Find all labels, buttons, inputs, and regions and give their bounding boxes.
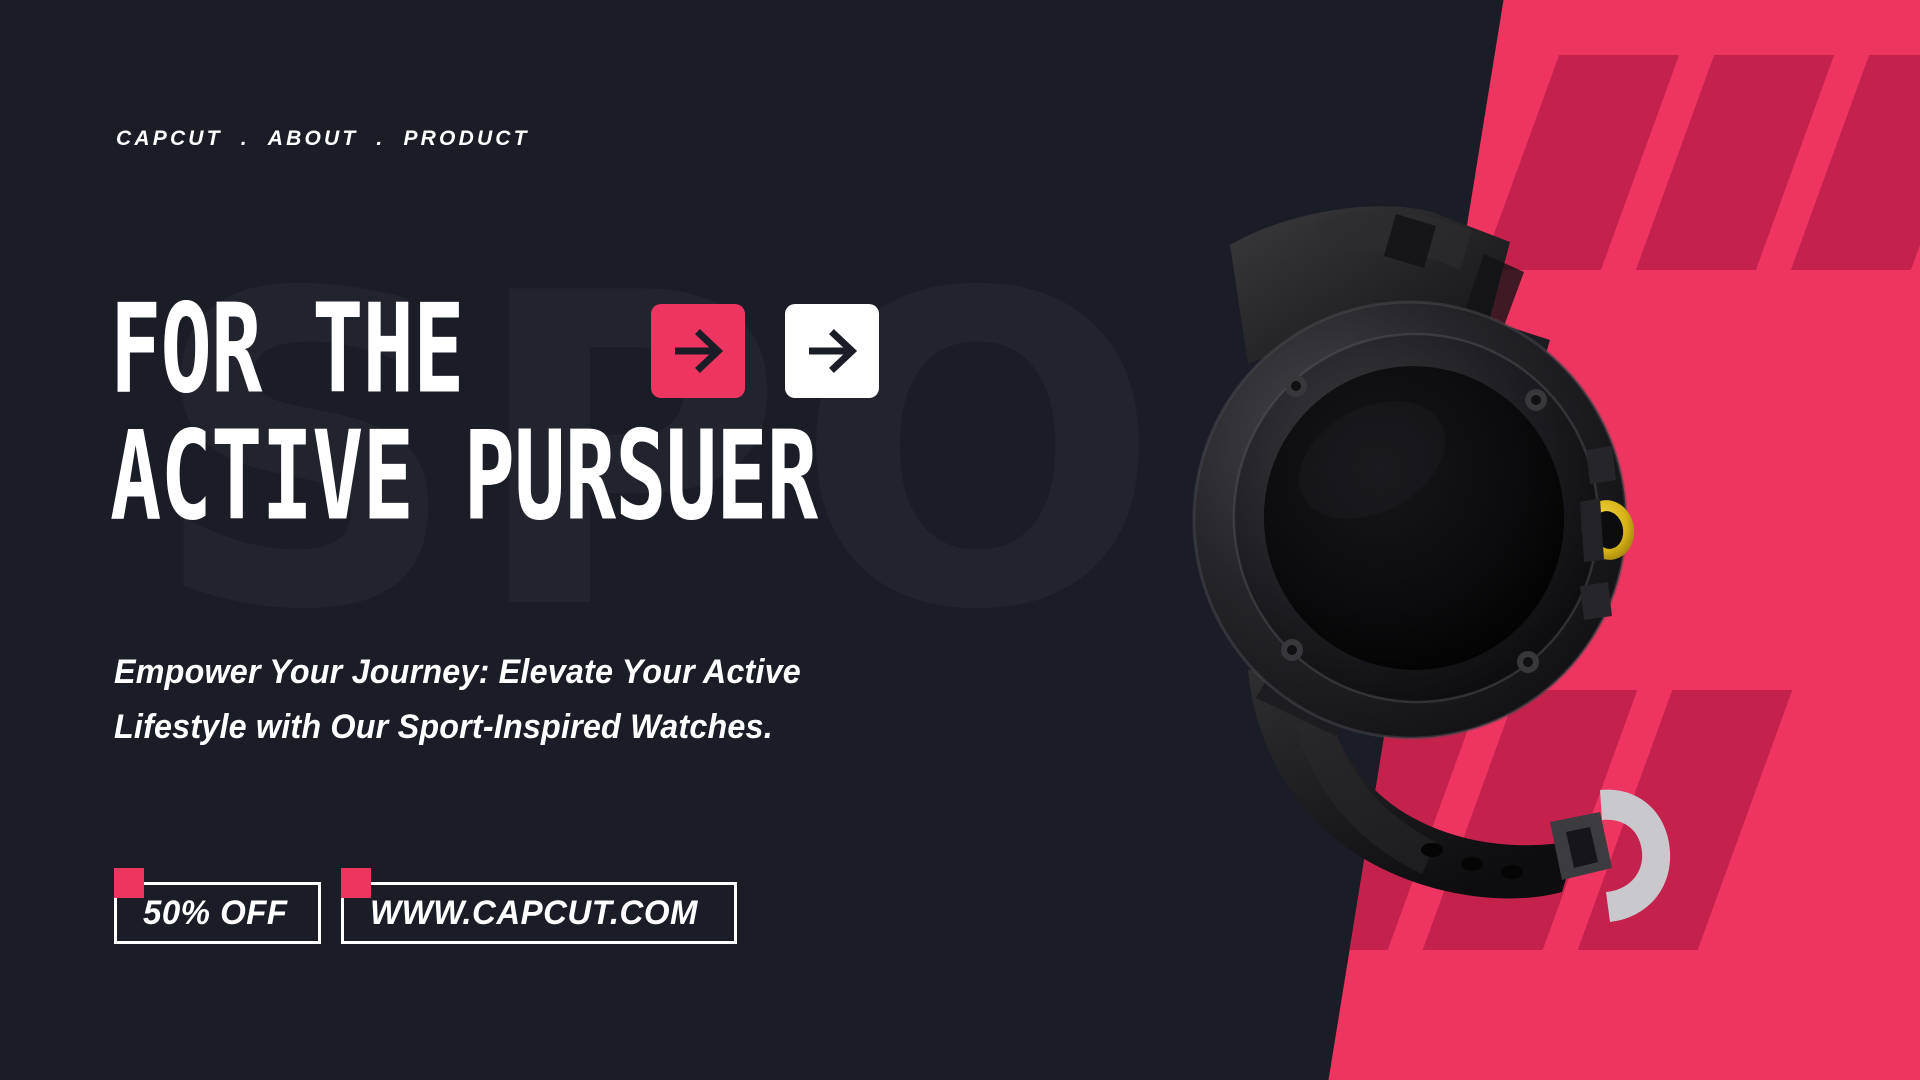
headline-row-1: FOR THE: [110, 300, 1110, 398]
cta-arrow-secondary-button[interactable]: [785, 304, 879, 398]
discount-badge[interactable]: 50% OFF: [114, 882, 321, 944]
badge-corner-square: [114, 868, 144, 898]
nav-item-capcut[interactable]: CAPCUT: [116, 127, 223, 151]
nav-item-product[interactable]: PRODUCT: [403, 127, 529, 151]
main-navigation: CAPCUT . ABOUT . PRODUCT: [116, 127, 530, 151]
hero-subtext: Empower Your Journey: Elevate Your Activ…: [114, 645, 931, 755]
promo-banner: SPO CAPCUT . ABOUT . PRODUCT FOR THE: [0, 0, 1920, 1080]
cta-arrow-group: [651, 304, 879, 398]
arrow-right-icon: [669, 322, 727, 380]
cta-arrow-primary-button[interactable]: [651, 304, 745, 398]
headline-line-1: FOR THE: [110, 292, 464, 406]
website-badge-wrap: WWW.CAPCUT.COM: [341, 868, 737, 944]
hero-headline-block: FOR THE: [110, 300, 1110, 525]
discount-badge-wrap: 50% OFF: [114, 868, 321, 944]
nav-item-about[interactable]: ABOUT: [268, 127, 359, 151]
product-smartwatch-image: [1080, 150, 1780, 940]
subtext-line-2: Lifestyle with Our Sport-Inspired Watche…: [114, 700, 931, 755]
watch-side-button: [1580, 582, 1612, 620]
badge-row: 50% OFF WWW.CAPCUT.COM: [114, 868, 737, 944]
nav-separator: .: [223, 127, 268, 151]
website-badge[interactable]: WWW.CAPCUT.COM: [341, 882, 737, 944]
headline-line-2: ACTIVE PURSUER: [110, 419, 930, 533]
watch-side-button: [1586, 446, 1616, 484]
badge-corner-square: [341, 868, 371, 898]
arrow-right-icon: [803, 322, 861, 380]
website-badge-label: WWW.CAPCUT.COM: [370, 894, 698, 933]
subtext-line-1: Empower Your Journey: Elevate Your Activ…: [114, 645, 931, 700]
discount-badge-label: 50% OFF: [143, 894, 288, 933]
watch-buckle-ring: [1600, 790, 1670, 922]
nav-separator: .: [358, 127, 403, 151]
